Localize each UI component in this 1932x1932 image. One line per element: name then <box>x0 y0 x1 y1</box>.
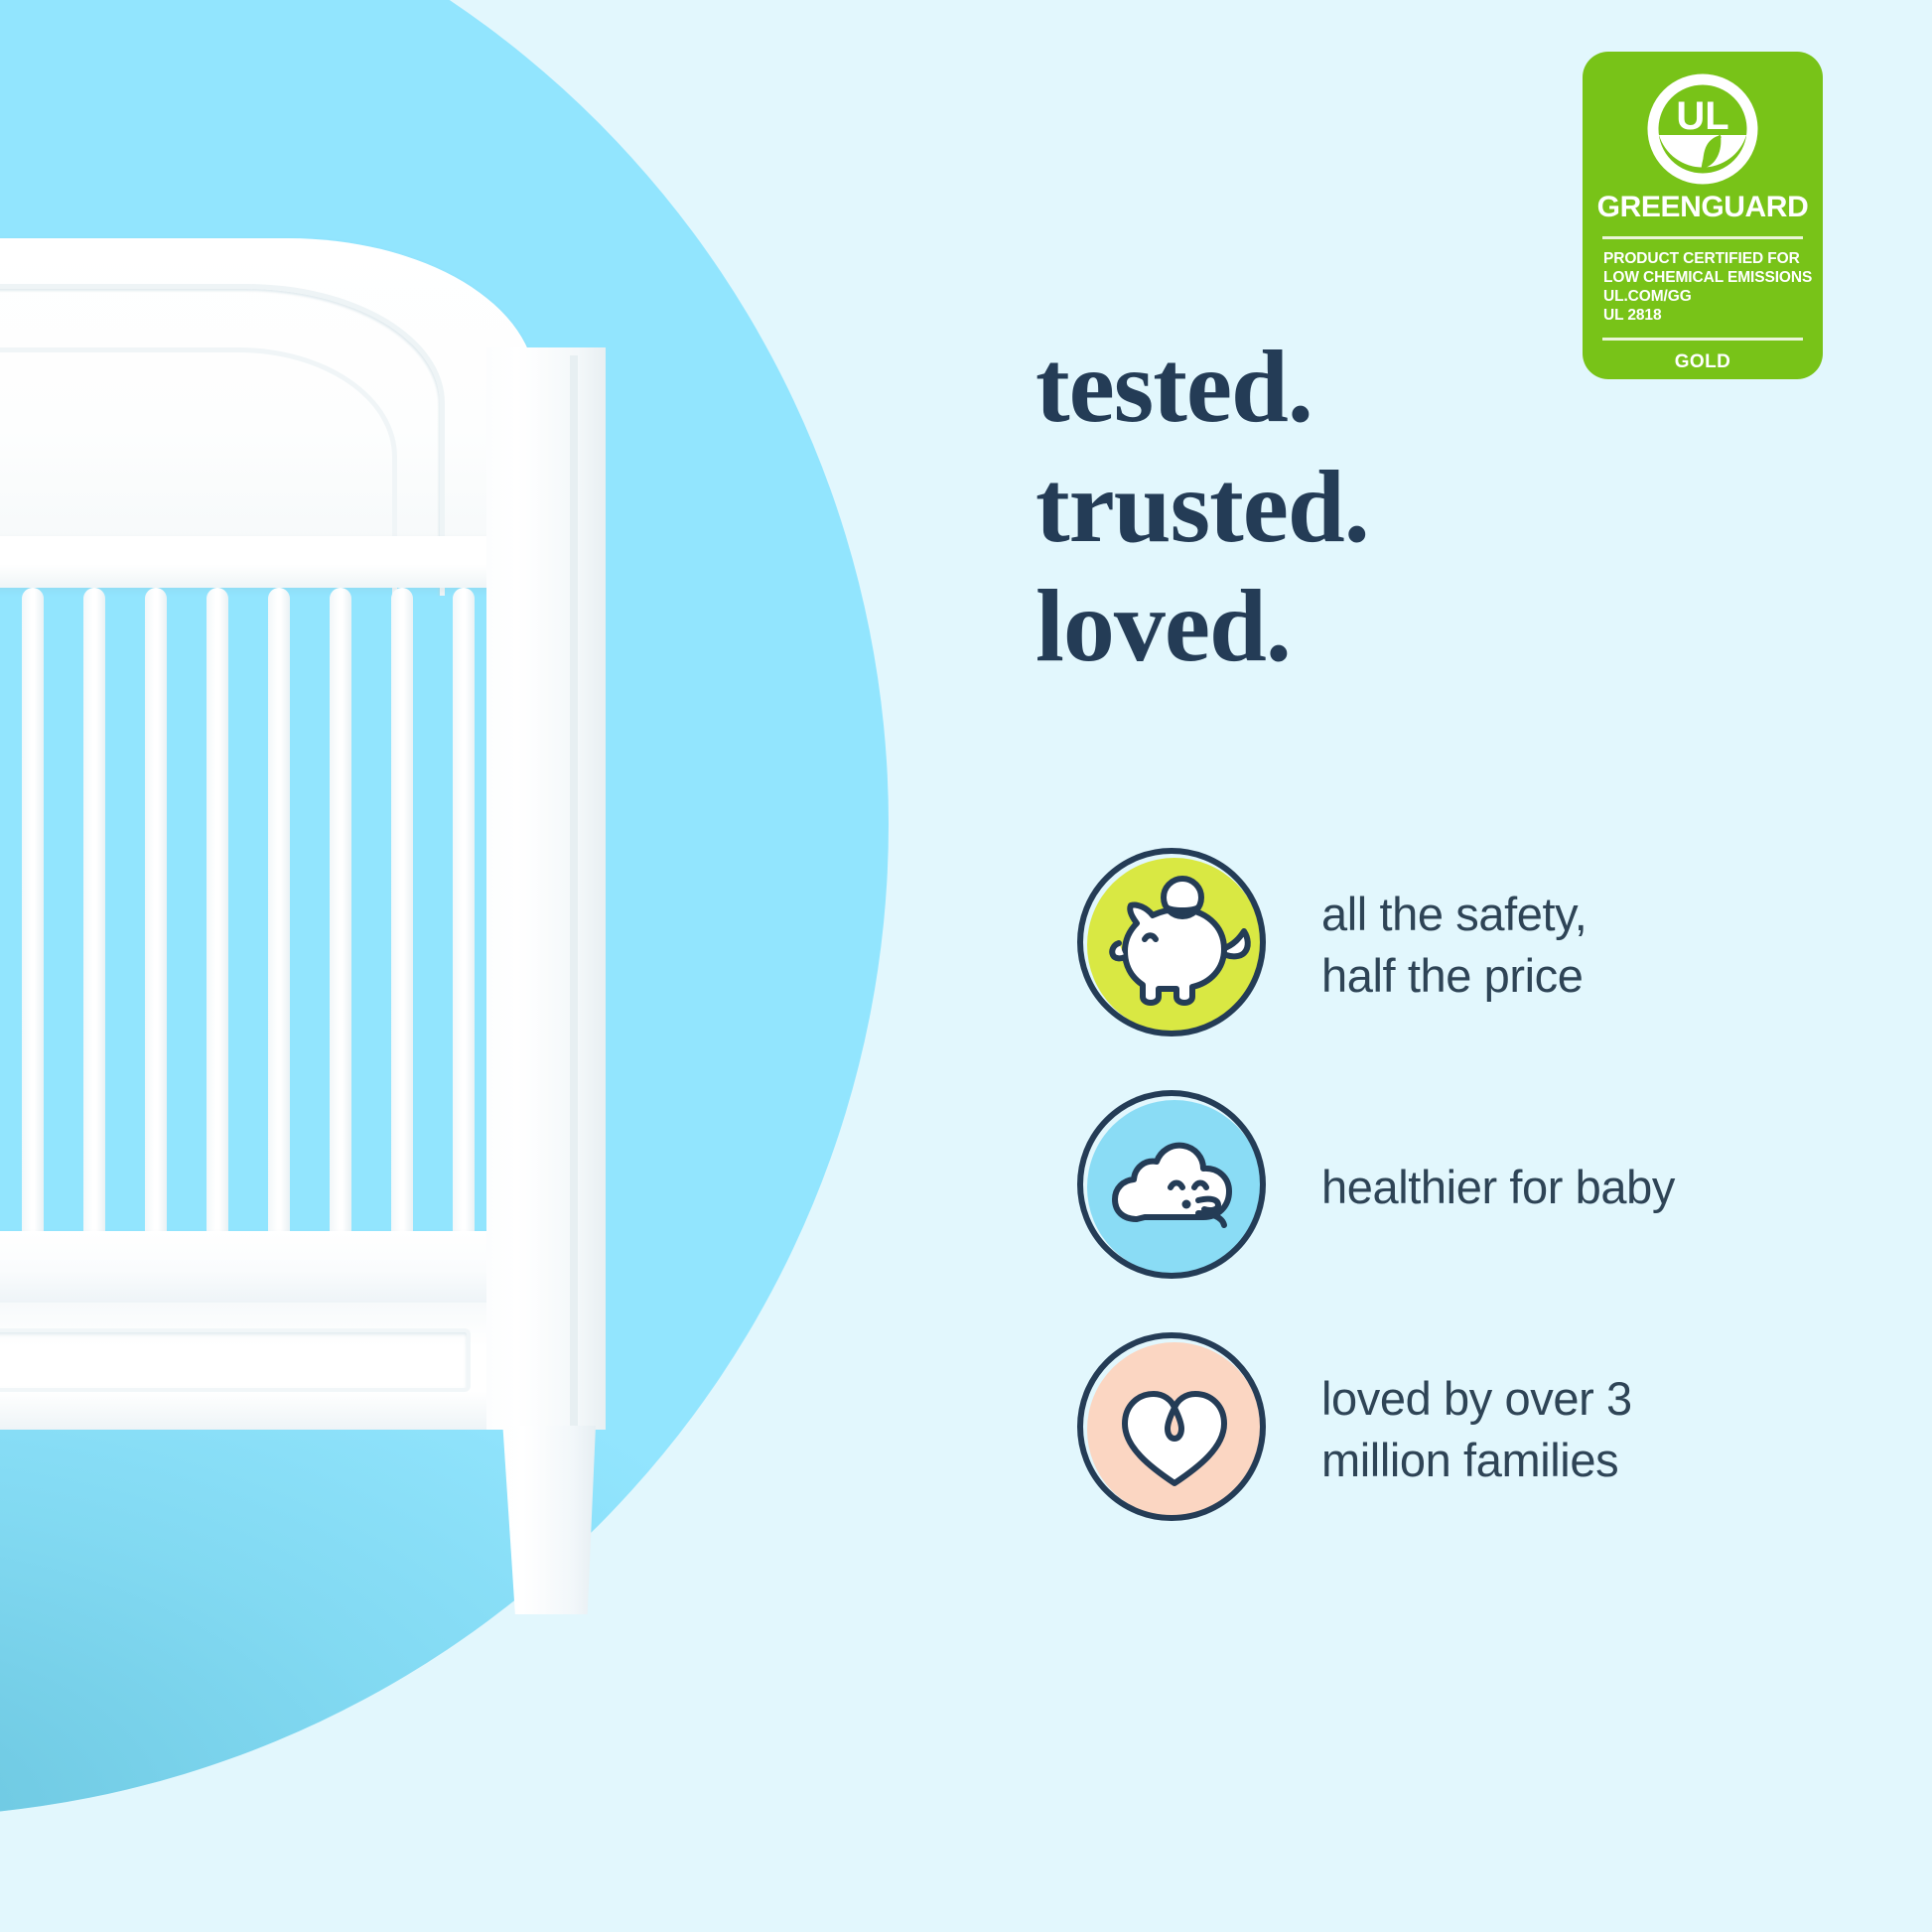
badge-description: PRODUCT CERTIFIED FOR LOW CHEMICAL EMISS… <box>1583 250 1823 326</box>
badge-line-4: UL 2818 <box>1603 307 1823 326</box>
badge-title: GREENGUARD <box>1583 191 1823 224</box>
greenguard-gold-badge: UL GREENGUARD PRODUCT CERTIFIED FOR LOW … <box>1583 52 1823 379</box>
badge-line-3: UL.COM/GG <box>1603 288 1823 307</box>
badge-level: GOLD <box>1583 351 1823 373</box>
feature-label-health: healthier for baby <box>1321 1157 1675 1218</box>
crib-top-rail <box>0 536 516 588</box>
product-marketing-image: UL GREENGUARD PRODUCT CERTIFIED FOR LOW … <box>0 0 1932 1932</box>
headline-line-3: loved. <box>1035 567 1369 687</box>
ul-logo-text: UL <box>1676 94 1728 138</box>
badge-divider-top <box>1602 236 1803 239</box>
crib-bottom-rail <box>0 1231 491 1303</box>
crib-slat <box>22 588 44 1243</box>
feature-list: all the safety, half the price <box>1075 846 1860 1573</box>
headline-line-2: trusted. <box>1035 448 1369 568</box>
piggy-bank-icon <box>1075 846 1274 1044</box>
crib-slats <box>0 588 496 1243</box>
feature-item-savings: all the safety, half the price <box>1075 846 1860 1044</box>
feature-loved-line-1: loved by over 3 <box>1321 1368 1632 1430</box>
crib-slat <box>268 588 290 1243</box>
badge-divider-bottom <box>1602 338 1803 341</box>
heart-glyph <box>1075 1330 1274 1529</box>
feature-label-loved: loved by over 3 million families <box>1321 1368 1632 1491</box>
feature-savings-line-1: all the safety, <box>1321 884 1587 945</box>
white-convertible-crib-photo <box>0 238 794 1499</box>
crib-slat <box>453 588 475 1243</box>
blowing-cloud-icon <box>1075 1088 1274 1287</box>
crib-slat <box>391 588 413 1243</box>
blowing-cloud-glyph <box>1075 1088 1274 1287</box>
feature-loved-line-2: million families <box>1321 1430 1632 1491</box>
feature-health-line-1: healthier for baby <box>1321 1157 1675 1218</box>
feature-label-savings: all the safety, half the price <box>1321 884 1587 1007</box>
badge-line-1: PRODUCT CERTIFIED FOR <box>1603 250 1823 269</box>
feature-item-health: healthier for baby <box>1075 1088 1860 1287</box>
crib-corner-post-edge <box>570 355 578 1428</box>
feature-item-loved: loved by over 3 million families <box>1075 1330 1860 1529</box>
crib-slat <box>207 588 228 1243</box>
crib-corner-post <box>486 347 606 1430</box>
crib-slat <box>330 588 351 1243</box>
ul-logo-icon: UL <box>1647 73 1758 185</box>
headline: tested. trusted. loved. <box>1035 328 1369 687</box>
crib-slat <box>83 588 105 1243</box>
crib-headboard <box>0 238 536 556</box>
feature-savings-line-2: half the price <box>1321 945 1587 1007</box>
piggy-bank-glyph <box>1075 846 1274 1044</box>
crib-base-panel <box>0 1303 496 1430</box>
headline-line-1: tested. <box>1035 328 1369 448</box>
crib-slat <box>145 588 167 1243</box>
heart-icon <box>1075 1330 1274 1529</box>
badge-line-2: LOW CHEMICAL EMISSIONS <box>1603 269 1823 288</box>
